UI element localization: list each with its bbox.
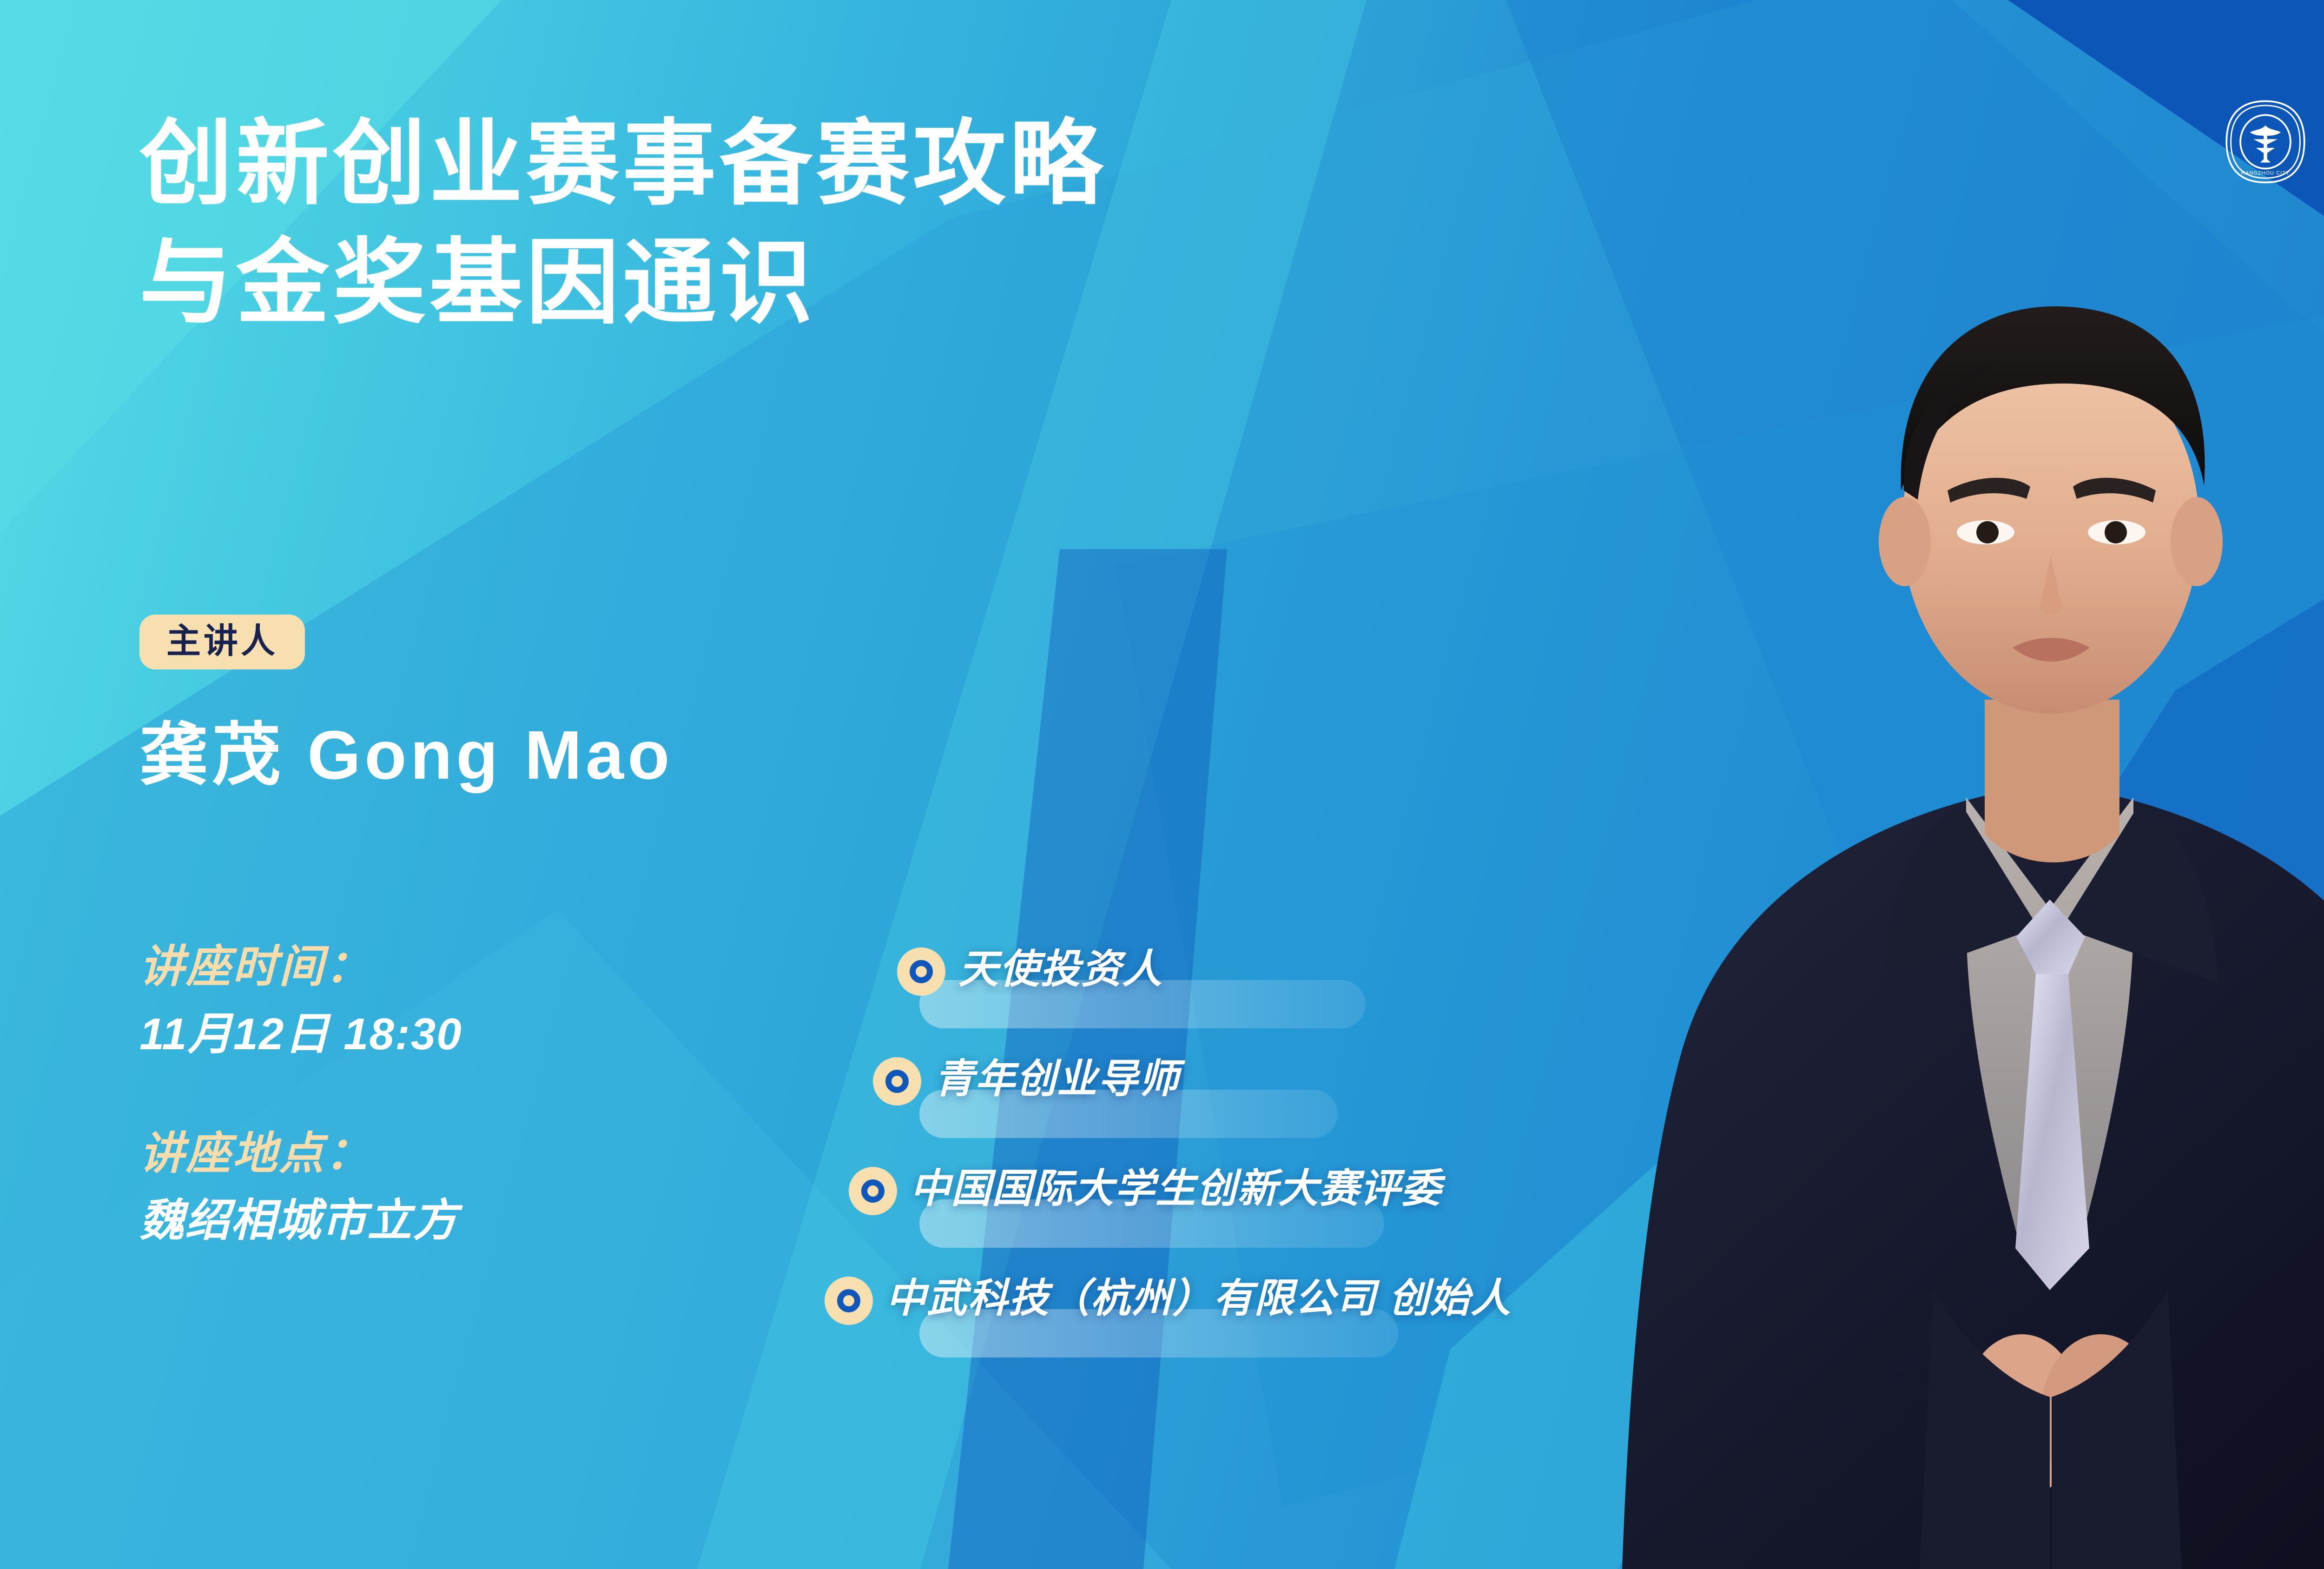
speaker-badge: 主讲人 — [139, 615, 305, 669]
bullet-ring-icon — [849, 1167, 897, 1215]
credential-text: 天使投资人 — [958, 944, 1163, 996]
bullet-ring-icon — [873, 1057, 921, 1106]
list-item: 中国国际大学生创新大赛评委 — [897, 1163, 2059, 1248]
university-seal-icon: HANGZHOU CITY — [2222, 99, 2309, 185]
title-line-2: 与金奖基因通识 — [139, 224, 1106, 343]
speaker-name: 龚茂 Gong Mao — [139, 718, 673, 794]
list-item: 青年创业导师 — [897, 1053, 2059, 1138]
list-item: 中武科技（杭州）有限公司 创始人 — [897, 1273, 2059, 1357]
lecture-info: 讲座时间： 11月12日 18:30 讲座地点： 魏绍相城市立方 — [139, 944, 837, 1245]
bullet-ring-icon — [897, 947, 945, 996]
university-logo: HANGZHOU CITY 浙大城市学院 HANGZHOU CITY UNIVE… — [2222, 99, 2324, 185]
title-line-1: 创新创业赛事备赛攻略 — [139, 105, 1106, 224]
poster-canvas: HANGZHOU CITY 浙大城市学院 HANGZHOU CITY UNIVE… — [0, 0, 2324, 1569]
place-label: 讲座地点： — [139, 1131, 837, 1178]
credential-text: 中国国际大学生创新大赛评委 — [910, 1163, 1442, 1215]
svg-text:HANGZHOU CITY: HANGZHOU CITY — [2241, 171, 2289, 176]
time-label: 讲座时间： — [139, 944, 837, 991]
bullet-ring-icon — [825, 1277, 873, 1325]
credential-text: 青年创业导师 — [934, 1053, 1180, 1106]
credentials-list: 天使投资人 青年创业导师 中国国际大学生创新大赛评委 中武科技（杭州）有限公司 … — [897, 944, 2059, 1357]
time-value: 11月12日 18:30 — [139, 1011, 837, 1058]
place-value: 魏绍相城市立方 — [139, 1198, 837, 1245]
page-title: 创新创业赛事备赛攻略 与金奖基因通识 — [139, 105, 1106, 343]
speaker-portrait — [1529, 165, 2324, 1569]
credential-text: 中武科技（杭州）有限公司 创始人 — [886, 1273, 1512, 1325]
list-item: 天使投资人 — [897, 944, 2059, 1028]
